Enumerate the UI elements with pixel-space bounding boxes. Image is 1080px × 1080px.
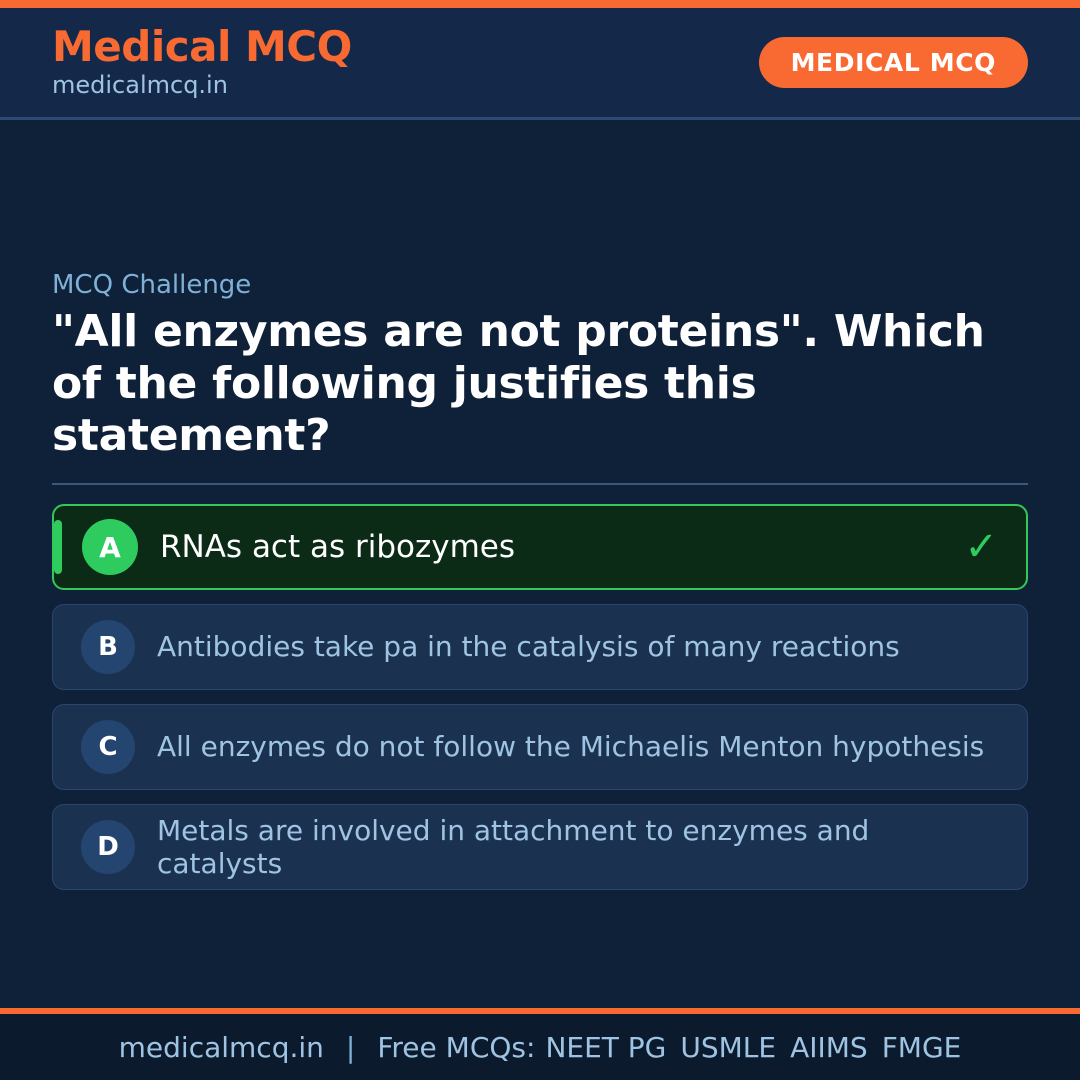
option-letter-badge-d: D xyxy=(81,820,135,874)
question-text: "All enzymes are not proteins". Which of… xyxy=(52,306,992,462)
options-list: A RNAs act as ribozymes ✓ B Antibodies t… xyxy=(52,504,1028,890)
footer-site-link[interactable]: medicalmcq.in xyxy=(119,1031,324,1064)
top-accent-bar xyxy=(0,0,1080,8)
page-header: Medical MCQ medicalmcq.in MEDICAL MCQ xyxy=(0,8,1080,120)
option-row-a[interactable]: A RNAs act as ribozymes ✓ xyxy=(52,504,1028,590)
correct-accent-bar xyxy=(54,520,62,574)
option-text-c: All enzymes do not follow the Michaelis … xyxy=(157,730,1005,763)
main-content: MCQ Challenge "All enzymes are not prote… xyxy=(0,120,1080,1008)
option-letter-badge-b: B xyxy=(81,620,135,674)
option-row-c[interactable]: C All enzymes do not follow the Michaeli… xyxy=(52,704,1028,790)
option-text-a: RNAs act as ribozymes xyxy=(160,529,964,566)
footer-separator: | xyxy=(346,1031,355,1064)
footer-exam-usmle[interactable]: USMLE xyxy=(680,1031,776,1064)
footer-exam-fmge[interactable]: FMGE xyxy=(882,1031,962,1064)
option-text-b: Antibodies take pa in the catalysis of m… xyxy=(157,630,1005,663)
check-icon: ✓ xyxy=(964,527,998,567)
option-row-b[interactable]: B Antibodies take pa in the catalysis of… xyxy=(52,604,1028,690)
header-badge: MEDICAL MCQ xyxy=(759,37,1028,88)
footer-exam-aiims[interactable]: AIIMS xyxy=(790,1031,868,1064)
page-footer: medicalmcq.in | Free MCQs: NEET PG USMLE… xyxy=(0,1014,1080,1080)
option-letter-badge-c: C xyxy=(81,720,135,774)
section-divider xyxy=(52,483,1028,485)
brand-block: Medical MCQ medicalmcq.in xyxy=(52,25,352,100)
option-text-d: Metals are involved in attachment to enz… xyxy=(157,814,1005,880)
footer-inner: medicalmcq.in | Free MCQs: NEET PG USMLE… xyxy=(119,1031,962,1064)
brand-subtitle: medicalmcq.in xyxy=(52,71,352,100)
option-row-d[interactable]: D Metals are involved in attachment to e… xyxy=(52,804,1028,890)
brand-title: Medical MCQ xyxy=(52,25,352,69)
footer-exam-neet-pg[interactable]: NEET PG xyxy=(545,1031,666,1064)
mcq-card: Medical MCQ medicalmcq.in MEDICAL MCQ MC… xyxy=(0,0,1080,1080)
option-letter-badge-a: A xyxy=(82,519,138,575)
footer-label: Free MCQs: xyxy=(377,1031,535,1064)
kicker-label: MCQ Challenge xyxy=(52,270,251,301)
